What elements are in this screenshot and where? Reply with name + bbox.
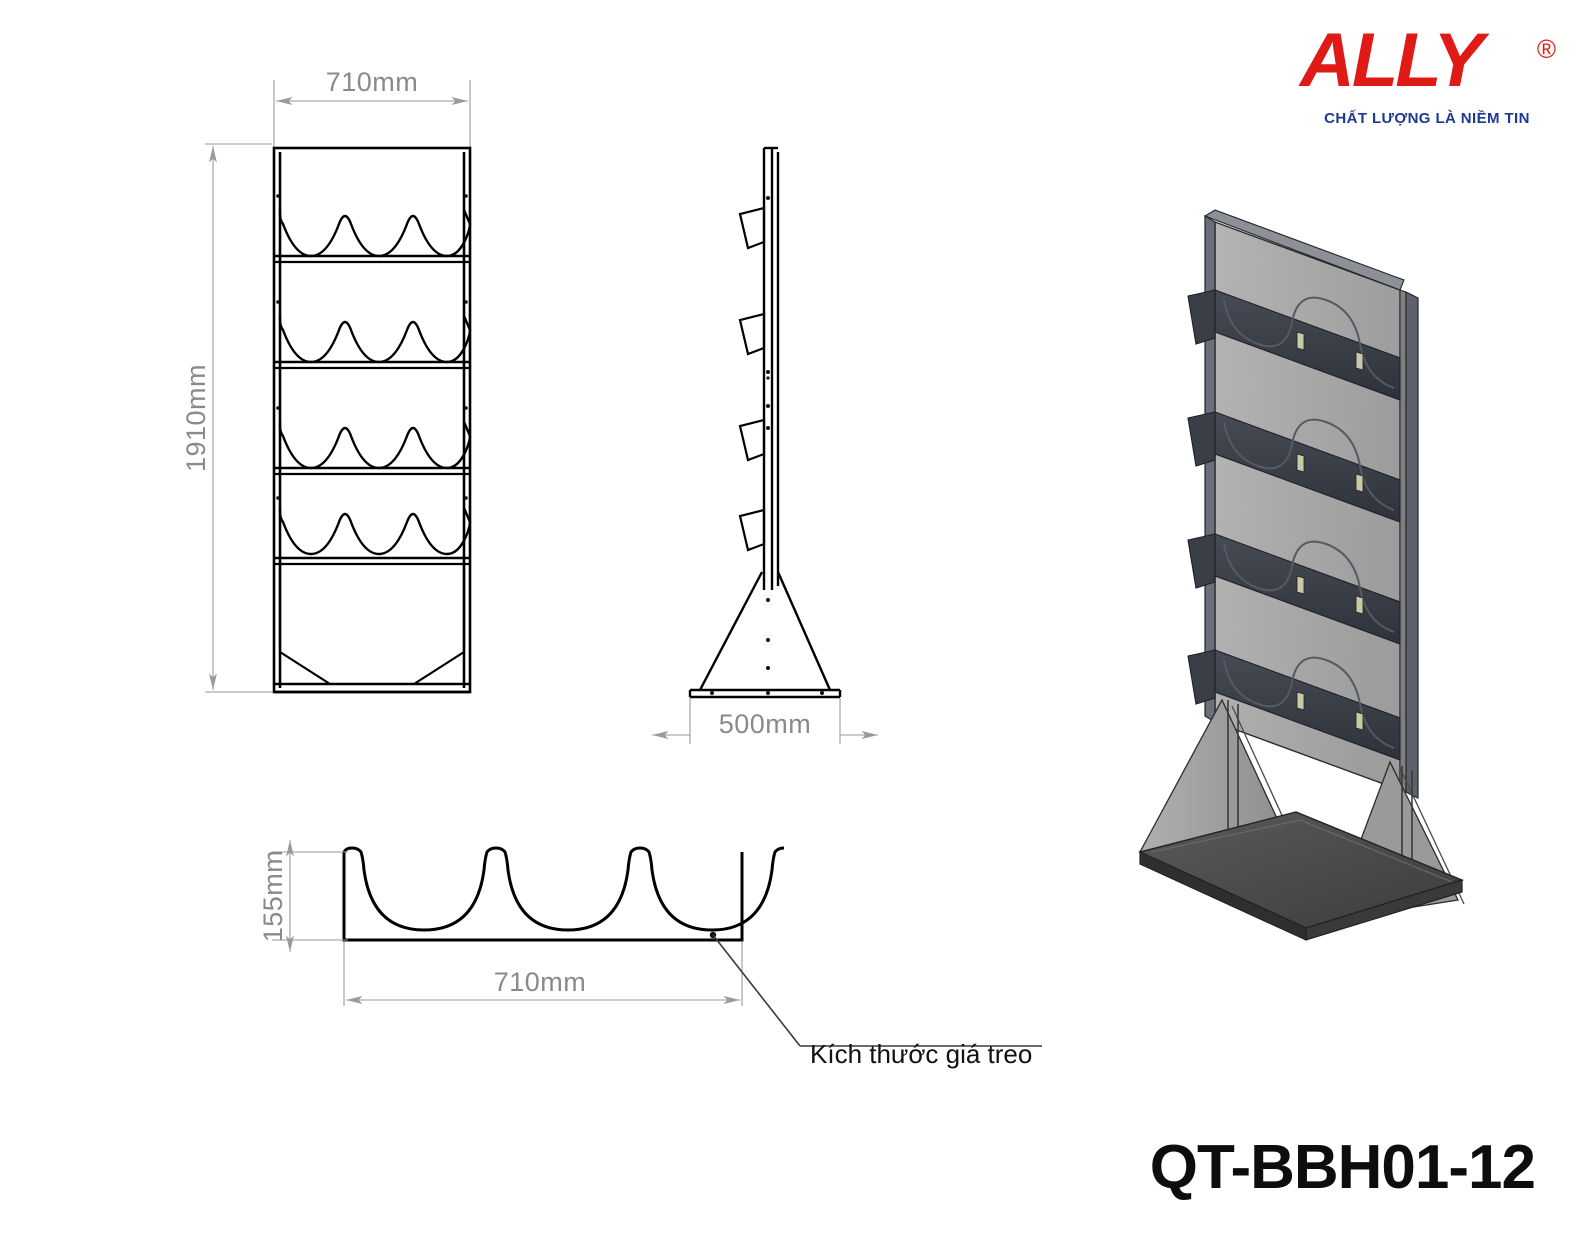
side-bracket-4: [740, 510, 764, 550]
front-shelf-4: [274, 508, 470, 564]
logo-wordmark: ALLY: [1300, 20, 1481, 102]
registered-mark-icon: ®: [1537, 34, 1556, 65]
side-rivets: [710, 196, 824, 695]
dimension-detail-height: 155mm: [258, 840, 348, 952]
front-base-section: [274, 564, 470, 692]
iso-panel-edge-right: [1400, 290, 1406, 792]
side-bracket-3: [740, 420, 764, 460]
front-shelf-1: [274, 210, 470, 262]
detail-callout-leader: [710, 932, 1042, 1046]
dimension-detail-height-label: 155mm: [258, 850, 288, 943]
front-shelf-3: [274, 422, 470, 474]
front-rack-outline: [274, 148, 470, 692]
side-bracket-1: [740, 208, 764, 248]
side-post: [764, 148, 778, 590]
drawing-canvas: ALLY ® CHẤT LƯỢNG LÀ NIỀM TIN: [0, 0, 1595, 1241]
dimension-detail-width-label: 710mm: [494, 967, 587, 997]
detail-view: 155mm 710mm Kích thước giá treo: [258, 840, 1042, 1069]
dimension-detail-width: 710mm: [344, 942, 742, 1006]
dimension-front-height-label: 1910mm: [181, 364, 211, 472]
dimension-side-base-label: 500mm: [719, 709, 812, 739]
isometric-view: [1140, 210, 1464, 940]
dimension-side-base: 500mm: [652, 698, 878, 744]
front-extension-lines: [205, 80, 470, 692]
side-bracket-2: [740, 314, 764, 354]
side-base-frame: [690, 572, 840, 697]
front-shelf-2: [274, 316, 470, 368]
dimension-front-height: 1910mm: [181, 146, 213, 690]
iso-rail-right: [1406, 292, 1418, 798]
side-brackets: [740, 208, 764, 550]
product-code: QT-BBH01-12: [1150, 1132, 1535, 1203]
front-shelves: [274, 210, 470, 564]
detail-callout-label: Kích thước giá treo: [810, 1039, 1032, 1069]
side-view: 500mm: [652, 148, 878, 744]
ally-logo: ALLY ® CHẤT LƯỢNG LÀ NIỀM TIN: [1292, 18, 1554, 138]
logo-tagline: CHẤT LƯỢNG LÀ NIỀM TIN: [1302, 110, 1552, 127]
front-rivets: [276, 194, 468, 500]
dimension-front-width: 710mm: [276, 67, 468, 101]
engineering-drawing-svg: 710mm 1910mm: [0, 0, 1595, 1241]
detail-shelf-cradles: [344, 848, 784, 930]
front-view: 710mm 1910mm: [181, 67, 470, 692]
dimension-front-width-label: 710mm: [326, 67, 419, 97]
